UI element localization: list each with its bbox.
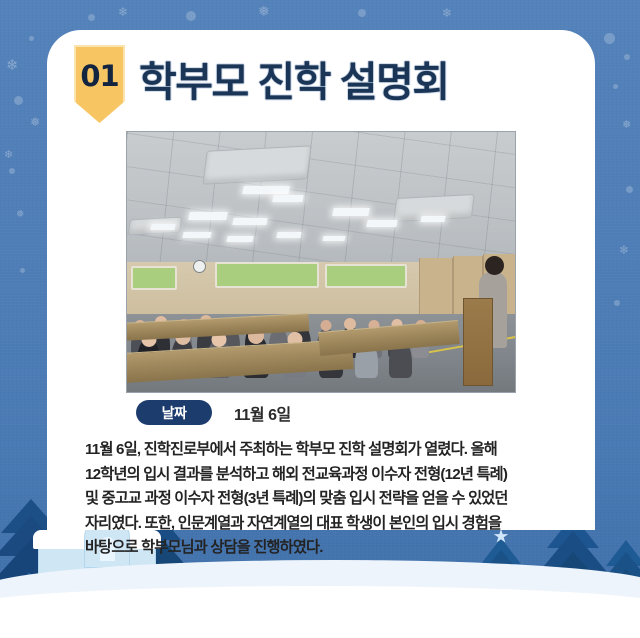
photo-ceiling-light	[272, 195, 303, 202]
photo-ac-unit	[202, 145, 311, 184]
snowflake-icon: ❅	[30, 116, 40, 128]
photo-ceiling-light	[332, 208, 370, 216]
photo-podium	[463, 298, 493, 386]
body-copy: 11월 6일, 진학진로부에서 주최하는 학부모 진학 설명회가 열렸다. 올해…	[85, 438, 575, 561]
snow-dot-icon	[14, 96, 23, 105]
body-line: 11월 6일, 진학진로부에서 주최하는 학부모 진학 설명회가 열렸다. 올해	[85, 438, 575, 463]
card-header: 01 학부모 진학 설명회	[47, 30, 595, 134]
date-value: 11월 6일	[234, 401, 291, 425]
event-photo	[126, 131, 516, 393]
content-card: 01 학부모 진학 설명회	[47, 30, 595, 530]
photo-ceiling-light	[232, 218, 267, 225]
snowflake-icon: ❅	[258, 4, 270, 18]
body-line: 및 중고교 과정 이수자 전형(3년 특례)의 맞춤 입시 전략을 얻을 수 있…	[85, 487, 575, 512]
photo-ceiling-light	[276, 232, 301, 238]
snow-dot-icon	[358, 9, 366, 17]
snow-dot-icon	[88, 14, 95, 21]
snowflake-icon: ❅	[622, 120, 631, 131]
snow-dot-icon	[20, 268, 25, 273]
photo-ceiling-light	[182, 232, 211, 238]
photo-ceiling-light	[420, 216, 445, 222]
body-line: 바탕으로 학부모님과 상담을 진행하였다.	[85, 536, 575, 561]
photo-wall-clock-icon	[193, 260, 206, 273]
snow-dot-icon	[613, 84, 618, 89]
date-label-badge: 날짜	[136, 400, 212, 425]
photo-ceiling-light	[226, 236, 253, 242]
snow-dot-icon	[624, 54, 630, 60]
snow-dot-icon	[9, 168, 15, 174]
snowflake-icon: ❄	[6, 58, 19, 73]
section-number-label: 01	[80, 59, 118, 93]
snow-dot-icon	[29, 36, 34, 41]
photo-ceiling-light	[242, 186, 290, 194]
snow-ground	[0, 608, 640, 638]
section-number-badge: 01	[74, 45, 125, 123]
snow-dot-icon	[186, 11, 196, 21]
snowflake-icon: ❅	[16, 210, 24, 220]
snow-dot-icon	[614, 300, 620, 306]
snowflake-icon: ❄	[442, 7, 452, 19]
date-row: 날짜 11월 6일	[136, 400, 291, 425]
photo-ceiling-light	[150, 224, 175, 230]
snow-dot-icon	[626, 186, 633, 193]
photo-ceiling-light	[366, 220, 397, 227]
body-line: 자리였다. 또한, 인문계열과 자연계열의 대표 학생이 본인의 입시 경험을	[85, 512, 575, 537]
snowflake-icon: ❄	[118, 6, 128, 18]
photo-ceiling-light	[188, 212, 228, 220]
poster-canvas: ❄ ❅ ❄ ❅ ❄ ❄ ❅ ❄ ❅ ❄	[0, 0, 640, 638]
snow-dot-icon	[604, 33, 615, 44]
snowflake-icon: ❄	[4, 150, 13, 161]
body-line: 12학년의 입시 결과를 분석하고 해외 전교육과정 이수자 전형(12년 특례…	[85, 463, 575, 488]
snowflake-icon: ❄	[619, 244, 629, 256]
photo-ceiling-light	[322, 236, 345, 241]
page-title: 학부모 진학 설명회	[139, 48, 449, 108]
photo-speaker-head	[485, 256, 504, 275]
